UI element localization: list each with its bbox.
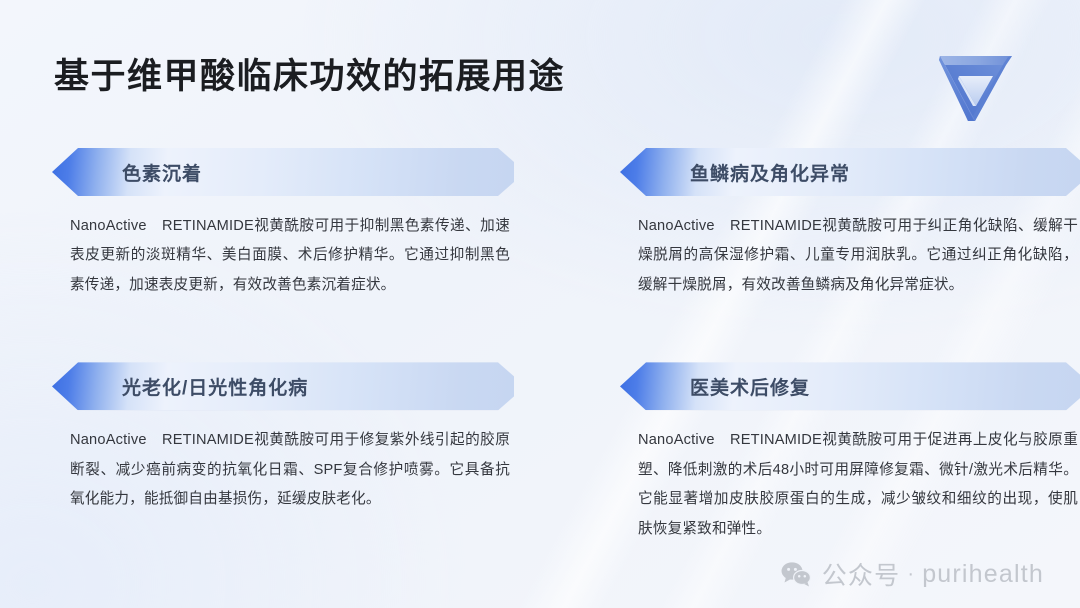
card-body-text: NanoActive RETINAMIDE视黄酰胺可用于促进再上皮化与胶原重塑、… bbox=[620, 426, 1080, 544]
card-body-text: NanoActive RETINAMIDE视黄酰胺可用于纠正角化缺陷、缓解干燥脱… bbox=[620, 212, 1080, 300]
card-banner: 鱼鳞病及角化异常 bbox=[620, 148, 1080, 196]
card-heading: 光老化/日光性角化病 bbox=[122, 373, 308, 400]
card-body-text: NanoActive RETINAMIDE视黄酰胺可用于修复紫外线引起的胶原断裂… bbox=[52, 426, 514, 514]
card-body-text: NanoActive RETINAMIDE视黄酰胺可用于抑制黑色素传递、加速表皮… bbox=[52, 212, 514, 300]
watermark-separator: · bbox=[907, 563, 915, 586]
banner-chevron-shape bbox=[620, 362, 1080, 410]
wechat-icon bbox=[781, 561, 811, 587]
card-post-procedure-repair: 医美术后修复 NanoActive RETINAMIDE视黄酰胺可用于促进再上皮… bbox=[620, 362, 1080, 544]
card-banner: 医美术后修复 bbox=[620, 362, 1080, 410]
watermark: 公众号 · purihealth bbox=[781, 556, 1044, 592]
card-heading: 色素沉着 bbox=[122, 159, 202, 186]
page-title: 基于维甲酸临床功效的拓展用途 bbox=[54, 55, 565, 99]
watermark-label: 公众号 bbox=[822, 556, 901, 592]
card-photoaging: 光老化/日光性角化病 NanoActive RETINAMIDE视黄酰胺可用于修… bbox=[52, 362, 514, 544]
triangle-3d-logo-icon bbox=[928, 42, 1020, 126]
card-ichthyosis: 鱼鳞病及角化异常 NanoActive RETINAMIDE视黄酰胺可用于纠正角… bbox=[620, 148, 1080, 300]
card-pigmentation: 色素沉着 NanoActive RETINAMIDE视黄酰胺可用于抑制黑色素传递… bbox=[52, 148, 514, 300]
cards-grid: 色素沉着 NanoActive RETINAMIDE视黄酰胺可用于抑制黑色素传递… bbox=[0, 148, 1080, 544]
card-heading: 医美术后修复 bbox=[690, 373, 810, 400]
card-banner: 光老化/日光性角化病 bbox=[52, 362, 514, 410]
watermark-text: 公众号 · purihealth bbox=[822, 556, 1044, 592]
card-heading: 鱼鳞病及角化异常 bbox=[690, 159, 850, 186]
watermark-account: purihealth bbox=[922, 560, 1044, 589]
slide-canvas: 基于维甲酸临床功效的拓展用途 bbox=[0, 0, 1080, 608]
card-banner: 色素沉着 bbox=[52, 148, 514, 196]
